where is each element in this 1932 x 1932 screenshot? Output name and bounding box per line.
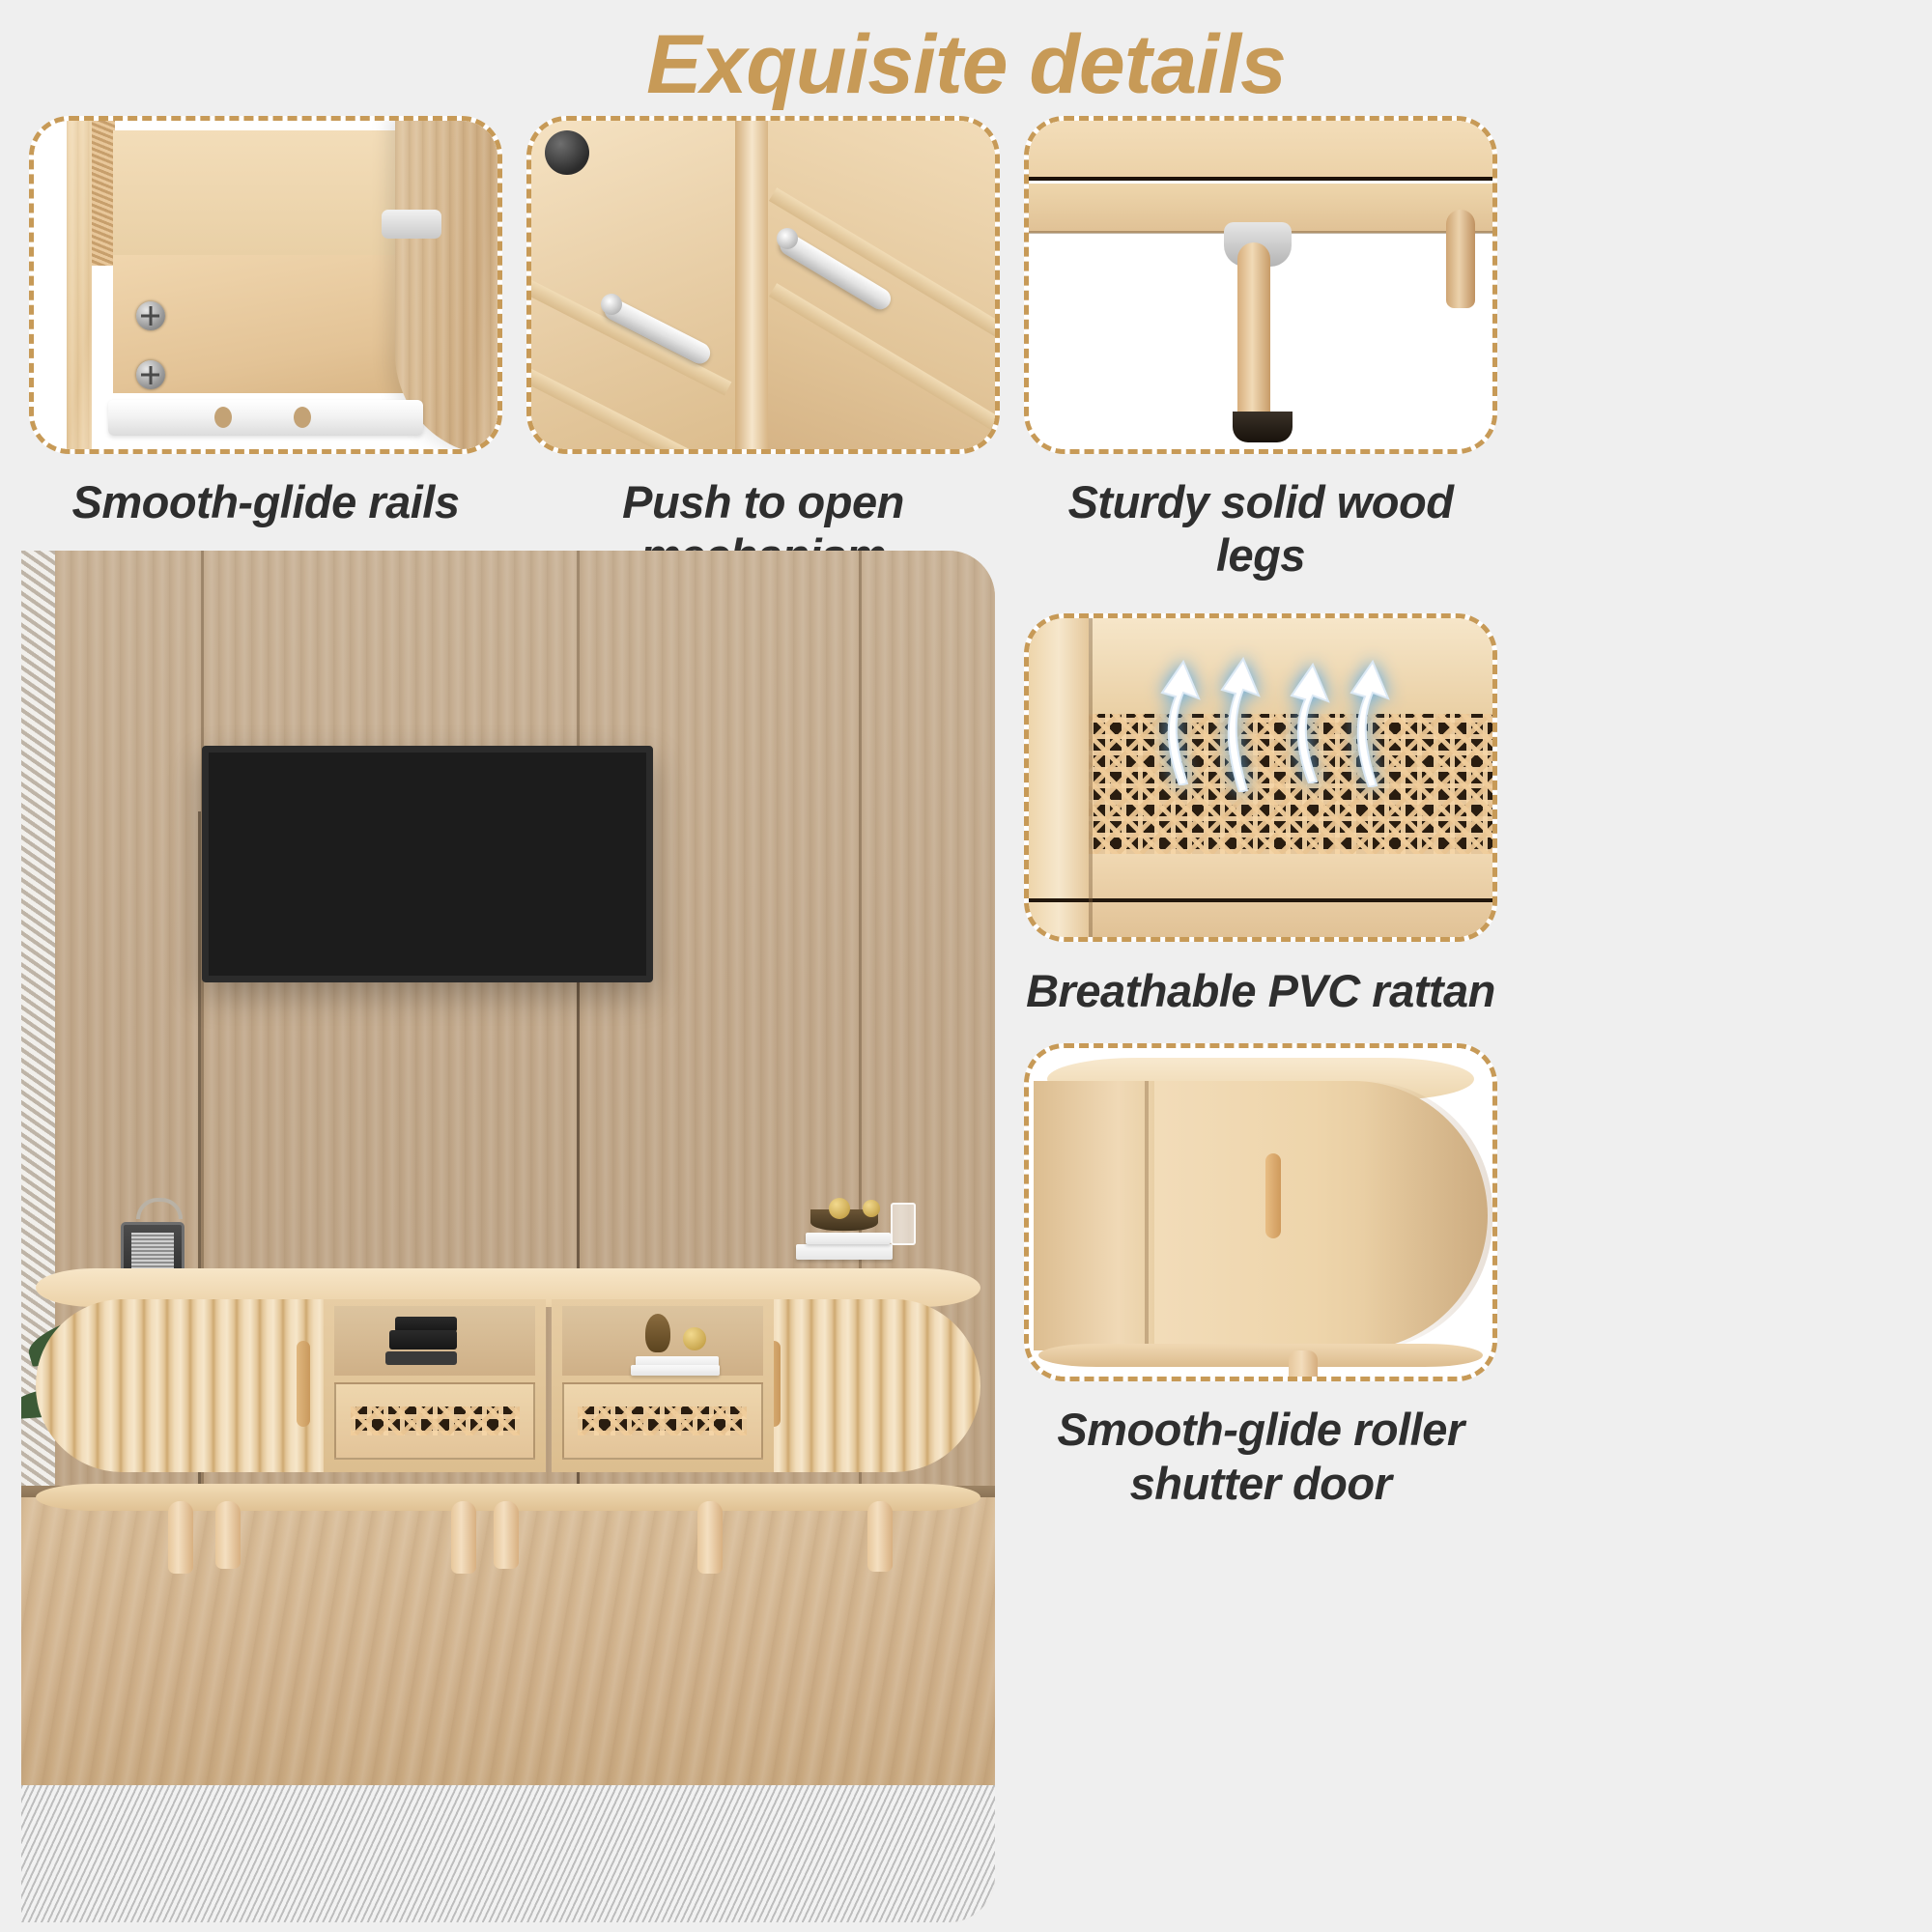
panel-smooth-glide-rails [29,116,502,454]
decor-vase [645,1314,670,1352]
left-shutter-door[interactable] [36,1299,324,1471]
airflow-arrow-icon [1284,663,1342,783]
decor-ball [863,1200,880,1217]
airflow-arrow-icon [1029,618,1492,937]
caption-roller-shutter-line2: shutter door [1024,1457,1497,1510]
books [796,1244,893,1260]
left-door-handle[interactable] [297,1341,310,1427]
panel-roller-shutter-door [1024,1043,1497,1381]
caption-roller-shutter-line1: Smooth-glide roller [1024,1403,1497,1456]
panel-solid-wood-legs [1024,116,1497,454]
rattan-weave-left [351,1406,520,1435]
airflow-arrow-icon [1214,657,1272,792]
panel-breathable-rattan [1024,613,1497,942]
stand-body [36,1299,980,1471]
drawer-rail-icon [34,121,497,449]
media-equipment [385,1351,457,1365]
books [631,1365,720,1376]
glass-tumbler [891,1203,916,1245]
stand-leg [168,1501,193,1574]
wood-leg-icon [1029,121,1492,449]
main-lifestyle-photo [21,551,995,1922]
page-title: Exquisite details [0,21,1932,108]
wall-mounted-tv [202,746,653,983]
stand-leg [867,1501,893,1572]
airflow-arrow-icon [1344,660,1402,787]
stand-leg [697,1501,723,1574]
stand-leg [494,1501,519,1569]
stand-leg [451,1501,476,1574]
panel-push-to-open [526,116,1000,454]
airflow-arrow-icon [1154,660,1212,785]
caption-smooth-glide-rails: Smooth-glide rails [29,475,502,528]
shutter-door-handle[interactable] [1265,1153,1281,1238]
right-shutter-door[interactable] [773,1299,980,1471]
stand-leg [215,1501,241,1569]
roller-shutter-icon [1029,1048,1492,1377]
tv-stand [36,1268,980,1511]
caption-solid-wood-legs: Sturdy solid wood legs [1024,475,1497,582]
decor-ball [683,1327,706,1350]
media-equipment [389,1330,457,1350]
books [806,1233,891,1244]
push-rod-icon [531,121,995,449]
caption-breathable-rattan: Breathable PVC rattan [1024,964,1497,1017]
rattan-weave-right [578,1406,747,1435]
stand-leg [1289,1350,1318,1381]
striped-rug [21,1785,995,1922]
